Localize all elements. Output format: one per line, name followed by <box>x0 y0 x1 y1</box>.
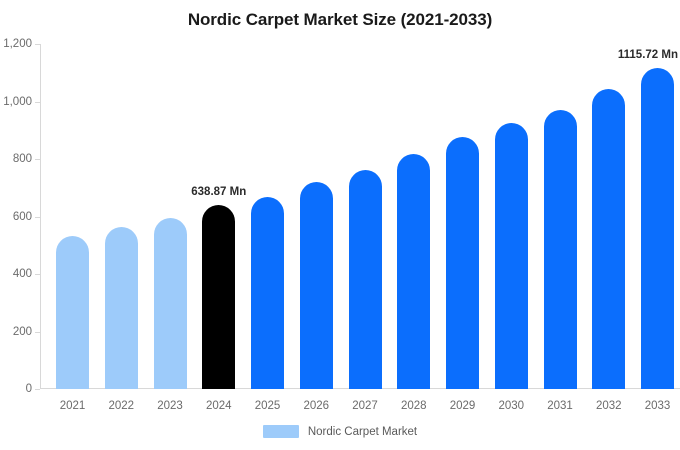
y-axis-tick-label: 1,200 <box>3 38 32 50</box>
y-axis-tick-label: 600 <box>13 211 32 223</box>
bar-2024[interactable]: 638.87 Mn <box>202 205 235 389</box>
x-axis-tick-label: 2031 <box>547 400 573 412</box>
x-axis-tick-label: 2026 <box>303 400 329 412</box>
y-axis-tick-label: 200 <box>13 326 32 338</box>
bar-group[interactable]: 1115.72 Mn2033 <box>641 44 674 389</box>
bar-2027[interactable] <box>349 170 382 389</box>
bar-value-label: 1115.72 Mn <box>618 49 678 61</box>
bar-2031[interactable] <box>544 110 577 389</box>
x-axis-tick-label: 2025 <box>255 400 281 412</box>
bar-2023[interactable] <box>154 218 187 389</box>
chart-legend: Nordic Carpet Market <box>0 425 680 438</box>
bar-group[interactable]: 2023 <box>154 44 187 389</box>
bar-group[interactable]: 2030 <box>495 44 528 389</box>
y-axis-tick-mark <box>35 44 40 45</box>
bar-group[interactable]: 2029 <box>446 44 479 389</box>
x-axis-tick-label: 2023 <box>157 400 183 412</box>
y-axis-tick-mark <box>35 389 40 390</box>
x-axis-tick-label: 2029 <box>450 400 476 412</box>
y-axis-tick-label: 1,000 <box>3 96 32 108</box>
y-axis-line <box>40 44 41 389</box>
legend-label: Nordic Carpet Market <box>308 426 417 438</box>
x-axis-tick-label: 2024 <box>206 400 232 412</box>
bar-group[interactable]: 2031 <box>544 44 577 389</box>
bar-2022[interactable] <box>105 227 138 389</box>
bar-group[interactable]: 2028 <box>397 44 430 389</box>
bar-2026[interactable] <box>300 182 333 389</box>
legend-item[interactable]: Nordic Carpet Market <box>263 425 417 438</box>
y-axis-tick-mark <box>35 217 40 218</box>
bar-group[interactable]: 2022 <box>105 44 138 389</box>
bar-group[interactable]: 2032 <box>592 44 625 389</box>
bar-2029[interactable] <box>446 137 479 389</box>
x-axis-tick-label: 2033 <box>645 400 671 412</box>
bar-group[interactable]: 2021 <box>56 44 89 389</box>
bar-2030[interactable] <box>495 123 528 389</box>
x-axis-tick-label: 2028 <box>401 400 427 412</box>
bar-2025[interactable] <box>251 197 284 389</box>
bar-2033[interactable]: 1115.72 Mn <box>641 68 674 389</box>
y-axis-tick-mark <box>35 102 40 103</box>
bar-group[interactable]: 2027 <box>349 44 382 389</box>
chart-title: Nordic Carpet Market Size (2021-2033) <box>0 10 680 30</box>
bar-2032[interactable] <box>592 89 625 389</box>
x-axis-tick-label: 2032 <box>596 400 622 412</box>
legend-swatch-icon <box>263 425 299 438</box>
x-axis-tick-label: 2030 <box>498 400 524 412</box>
y-axis-tick-label: 400 <box>13 268 32 280</box>
bar-value-label: 638.87 Mn <box>191 186 246 198</box>
bar-group[interactable]: 2025 <box>251 44 284 389</box>
bar-group[interactable]: 638.87 Mn2024 <box>202 44 235 389</box>
x-axis-tick-label: 2021 <box>60 400 86 412</box>
bar-2028[interactable] <box>397 154 430 389</box>
y-axis-tick-mark <box>35 332 40 333</box>
bar-chart: Nordic Carpet Market Size (2021-2033) 02… <box>0 0 680 450</box>
plot-area: 02004006008001,0001,200 202120222023638.… <box>40 44 680 389</box>
y-axis-tick-mark <box>35 159 40 160</box>
bar-2021[interactable] <box>56 236 89 389</box>
y-axis-tick-label: 800 <box>13 153 32 165</box>
y-axis-tick-label: 0 <box>26 383 32 395</box>
y-axis-tick-mark <box>35 274 40 275</box>
x-axis-tick-label: 2027 <box>352 400 378 412</box>
x-axis-tick-label: 2022 <box>108 400 134 412</box>
bar-group[interactable]: 2026 <box>300 44 333 389</box>
